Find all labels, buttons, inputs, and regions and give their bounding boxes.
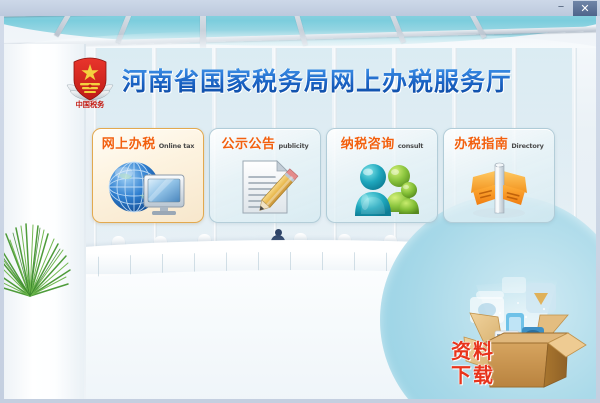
emblem-caption: 中国税务 xyxy=(76,100,106,108)
nav-card-publicity[interactable]: 公示公告 publicity xyxy=(209,128,321,223)
china-tax-emblem: 中国税务 xyxy=(66,56,114,108)
hall-scene: 资料 下载 xyxy=(4,4,596,399)
nav-card-consult[interactable]: 纳税咨询 consult xyxy=(326,128,438,223)
nav-card-consult-titles: 纳税咨询 consult xyxy=(327,137,437,152)
nav-card-consult-en: consult xyxy=(398,142,423,150)
page-title: 河南省国家税务局网上办税服务厅 xyxy=(122,67,512,97)
close-button[interactable]: ✕ xyxy=(573,1,597,16)
download-label-line2: 下载 xyxy=(442,363,504,387)
minimize-button[interactable]: – xyxy=(550,2,572,16)
nav-card-consult-cn: 纳税咨询 xyxy=(341,137,395,152)
site-header: 中国税务 河南省国家税务局网上办税服务厅 xyxy=(4,54,596,110)
nav-card-online-tax[interactable]: 网上办税 Online tax xyxy=(92,128,204,223)
nav-card-directory-titles: 办税指南 Directory xyxy=(444,137,554,152)
download-label[interactable]: 资料 下载 xyxy=(442,339,504,387)
download-label-line1: 资料 xyxy=(442,339,504,363)
nav-card-publicity-en: publicity xyxy=(279,142,309,150)
signpost-icon xyxy=(444,153,554,221)
nav-card-directory-en: Directory xyxy=(511,142,543,150)
window-controls: – ✕ xyxy=(550,1,597,16)
nav-card-directory-cn: 办税指南 xyxy=(454,137,508,152)
nav-card-online-tax-en: Online tax xyxy=(159,142,195,150)
document-pencil-icon xyxy=(210,153,320,221)
title-bar xyxy=(0,0,600,16)
nav-card-group: 网上办税 Online tax xyxy=(4,128,596,228)
nav-card-online-tax-cn: 网上办税 xyxy=(102,137,156,152)
application-window: – ✕ xyxy=(0,0,600,403)
people-group-icon xyxy=(327,153,437,221)
nav-card-publicity-titles: 公示公告 publicity xyxy=(210,137,320,152)
nav-card-directory[interactable]: 办税指南 Directory xyxy=(443,128,555,223)
nav-card-online-tax-titles: 网上办税 Online tax xyxy=(93,137,203,152)
globe-monitor-icon xyxy=(93,153,203,221)
nav-card-publicity-cn: 公示公告 xyxy=(221,137,275,152)
